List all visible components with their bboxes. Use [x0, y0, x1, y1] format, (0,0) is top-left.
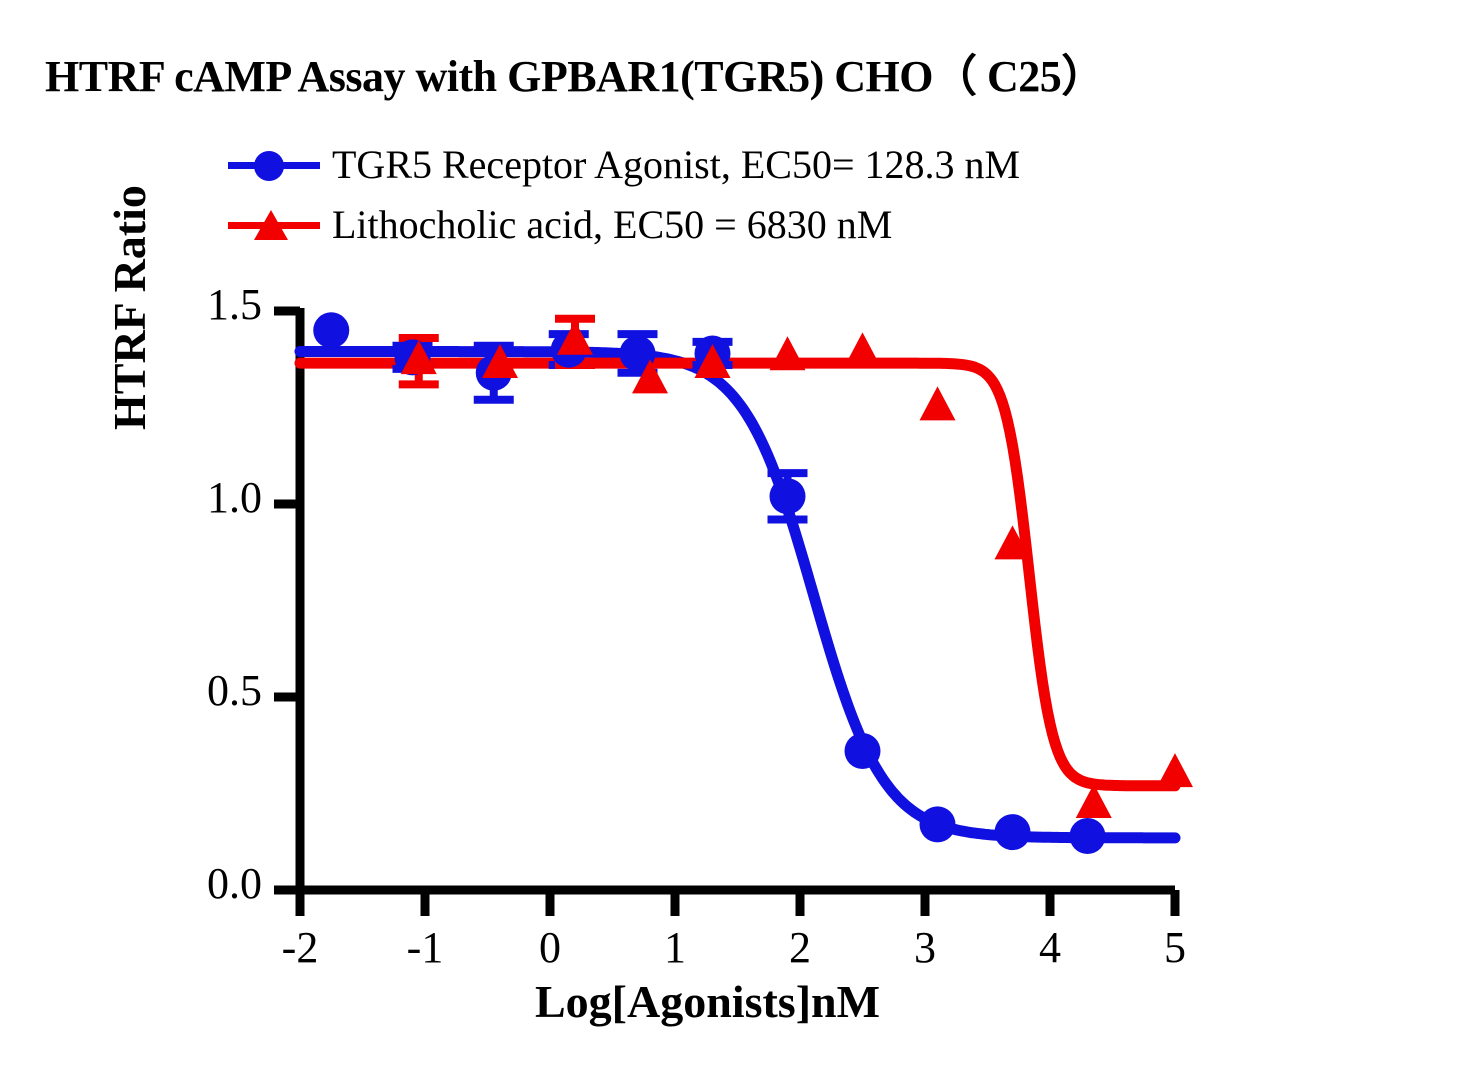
data-point-marker: [845, 332, 881, 366]
x-tick-label: 4: [1010, 922, 1090, 973]
y-tick-label: 1.0: [132, 472, 262, 523]
x-tick-label: 1: [635, 922, 715, 973]
y-tick-label: 0.5: [132, 665, 262, 716]
x-tick-label: -2: [260, 922, 340, 973]
data-point-marker: [313, 312, 349, 348]
data-point-marker: [770, 336, 806, 370]
fit-curve-lithocholic-acid: [300, 363, 1175, 786]
x-tick-label: -1: [385, 922, 465, 973]
x-tick-label: 5: [1135, 922, 1215, 973]
data-point-marker: [920, 386, 956, 420]
data-point-marker: [845, 733, 881, 769]
y-tick-label: 1.5: [132, 279, 262, 330]
data-point-marker: [995, 814, 1031, 850]
data-point-marker: [920, 806, 956, 842]
x-tick-label: 2: [760, 922, 840, 973]
y-tick-label: 0.0: [132, 858, 262, 909]
plot-canvas: [0, 0, 1465, 1080]
fit-curve-tgr5-agonist: [300, 352, 1175, 838]
data-point-marker: [1070, 818, 1106, 854]
data-point-marker: [770, 478, 806, 514]
x-tick-label: 3: [885, 922, 965, 973]
chart-figure: HTRF cAMP Assay with GPBAR1(TGR5) CHO（ C…: [0, 0, 1465, 1080]
data-point-marker: [1157, 753, 1193, 787]
x-tick-label: 0: [510, 922, 590, 973]
